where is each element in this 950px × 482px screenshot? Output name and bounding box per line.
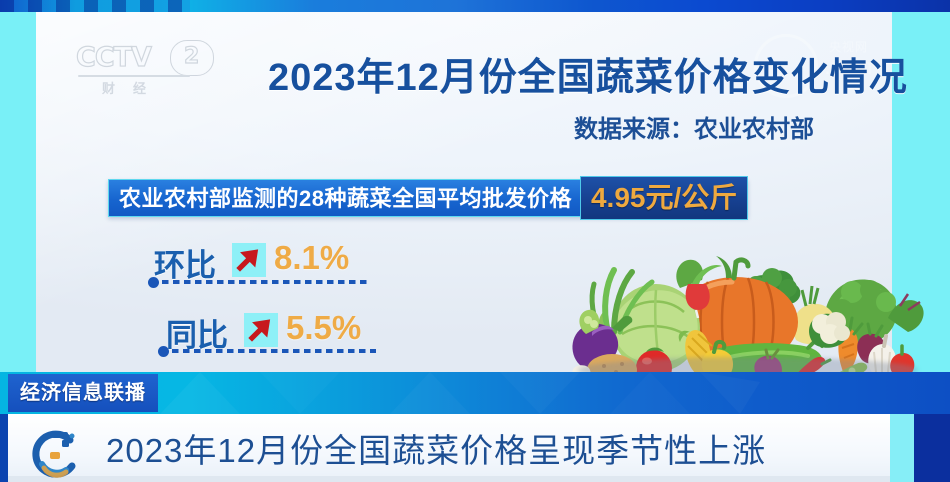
cctv-logo-rule [78,75,190,77]
stat-underline-mom [148,277,370,287]
stat-underline-yoy [158,346,376,356]
average-price-value: 4.95元/公斤 [580,176,748,220]
cctv-logo-subtitle: 财经 [102,78,164,97]
cctv-channel-number-badge: 2 [170,40,214,76]
bullet-dot [148,277,159,288]
data-source-subtitle: 数据来源：农业农村部 [574,109,814,144]
tv-broadcast-screen: CCTV 2 财经 央视网 .com 2023年12月份全国蔬菜价格变化情况 数… [0,0,950,482]
stat-value-mom: 8.1% [274,239,349,277]
average-price-label: 农业农村部监测的28种蔬菜全国平均批发价格 [108,179,580,217]
cctv2-watermark-icon: CCTV 2 财经 [76,42,236,94]
bottom-bar-underline [8,476,890,482]
strip-pattern [140,372,760,414]
bullet-dot [158,346,169,357]
arrow-up-right-icon [232,243,266,277]
dotted-rule [162,280,370,284]
program-name-tab: 经济信息联播 [8,374,158,412]
vegetables-illustration [556,240,936,385]
cctv-finance-ring-icon [26,424,84,480]
arrow-up-right-icon [244,313,278,347]
bottom-bar-cyan-cap [890,414,914,482]
cctv-channel-number: 2 [184,44,199,69]
page-title: 2023年12月份全国蔬菜价格变化情况 [268,46,908,101]
bottom-bar-navy-cap [914,414,950,482]
dotted-rule [172,349,376,353]
stat-value-yoy: 5.5% [286,309,361,347]
top-gradient-bar [0,0,950,12]
average-price-banner: 农业农村部监测的28种蔬菜全国平均批发价格 4.95元/公斤 [108,179,748,217]
main-graphic-panel: CCTV 2 财经 央视网 .com 2023年12月份全国蔬菜价格变化情况 数… [36,12,892,372]
bottom-headline-text: 2023年12月份全国蔬菜价格呈现季节性上涨 [106,424,766,472]
left-cyan-rail [0,12,36,372]
cctv-logo-text: CCTV [76,42,151,73]
